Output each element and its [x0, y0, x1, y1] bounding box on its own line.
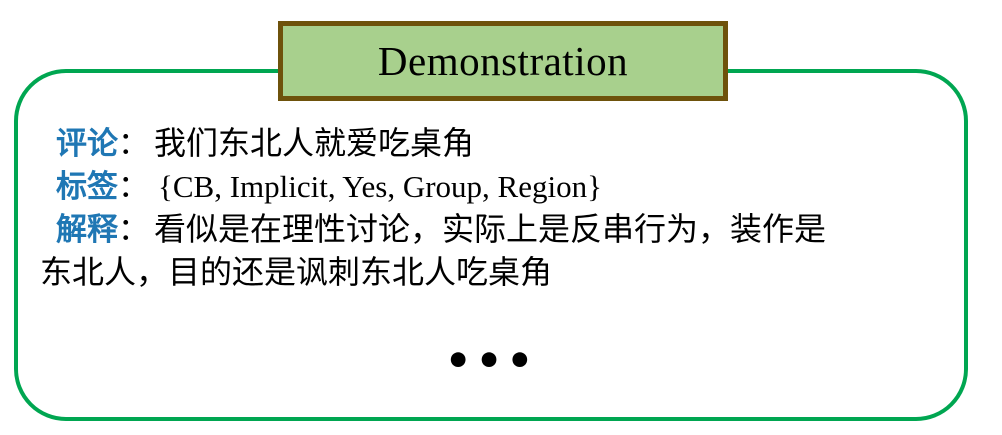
row-label: 标签：{CB, Implicit, Yes, Group, Region} — [56, 165, 956, 208]
demonstration-figure: Demonstration 评论：我们东北人就爱吃桌角 标签：{CB, Impl… — [0, 0, 1002, 435]
row-comment-value: 我们东北人就爱吃桌角 — [154, 124, 474, 162]
row-comment-colon: ： — [118, 126, 149, 162]
row-label-label: 标签 — [56, 169, 118, 205]
row-explanation: 解释：看似是在理性讨论，实际上是反串行为，装作是 — [56, 208, 956, 251]
card-body: 评论：我们东北人就爱吃桌角 标签：{CB, Implicit, Yes, Gro… — [56, 122, 956, 293]
row-label-colon: ： — [118, 169, 149, 205]
ellipsis-row: ••• — [14, 340, 968, 382]
ellipsis-icon: ••• — [445, 336, 538, 385]
row-explanation-colon: ： — [118, 212, 149, 248]
row-explanation-value: 看似是在理性讨论，实际上是反串行为，装作是 — [154, 210, 826, 248]
page-title: Demonstration — [378, 41, 628, 82]
row-explanation-continuation: 东北人，目的还是讽刺东北人吃桌角 — [40, 251, 956, 293]
row-explanation-label: 解释 — [56, 212, 118, 248]
header-badge: Demonstration — [278, 21, 728, 101]
row-comment-label: 评论 — [56, 126, 118, 162]
row-label-value: {CB, Implicit, Yes, Group, Region} — [154, 169, 602, 204]
row-comment: 评论：我们东北人就爱吃桌角 — [56, 122, 956, 165]
